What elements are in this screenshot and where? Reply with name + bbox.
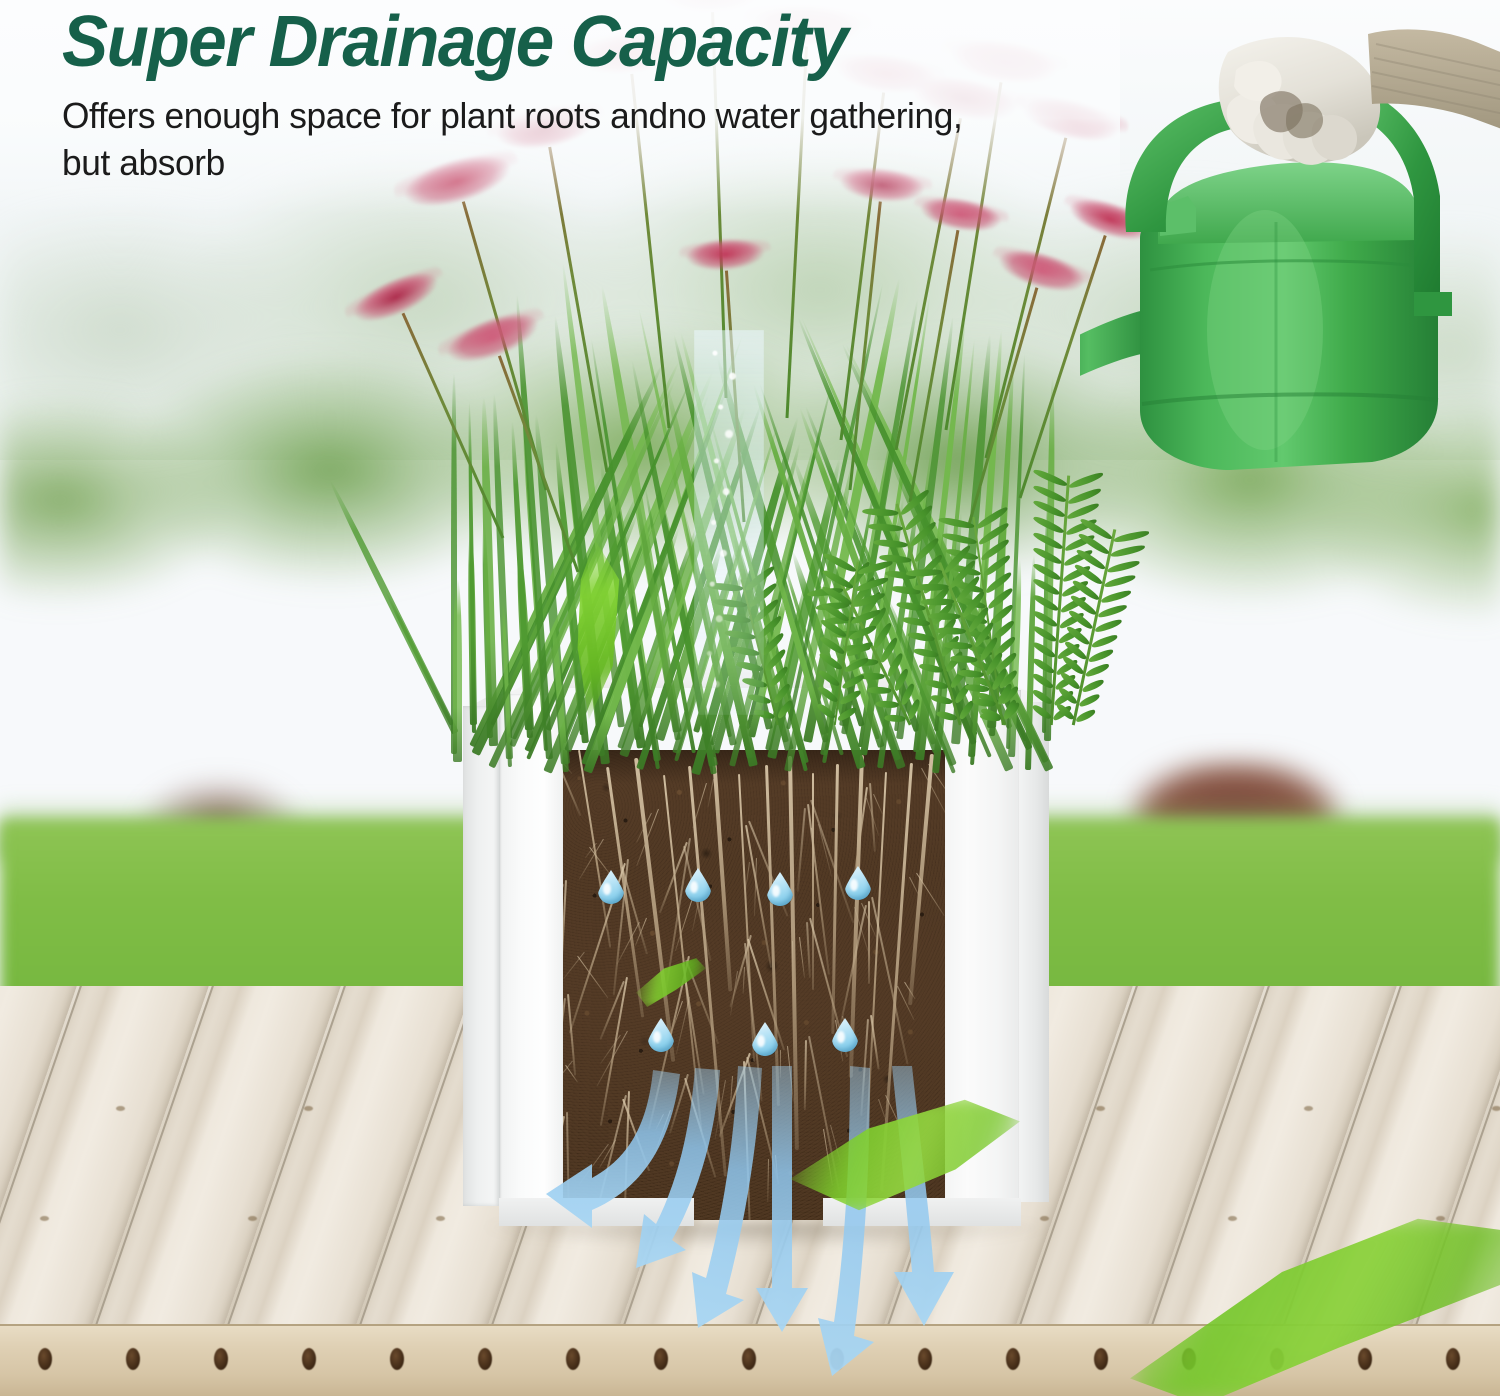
fern-pinna [906,569,942,576]
drainage-arrow-2 [636,1068,720,1268]
fern-pinna [906,698,922,720]
fern-pinna [921,597,954,605]
drainage-arrow-6 [892,1066,954,1326]
deck-nail [304,1106,313,1111]
deck-nail [116,1106,125,1111]
fern-pinna [862,507,899,518]
deck-nail [40,1216,49,1221]
rail-nail [302,1348,316,1370]
fern-pinna [1091,634,1119,649]
deck-nail [1096,1106,1105,1111]
fern-pinna [836,706,858,722]
rail-nail [1358,1348,1372,1370]
fern-pinna [935,626,966,636]
banner-text-block: Super Drainage Capacity Offers enough sp… [62,6,1122,186]
fern-pinna [1081,678,1105,693]
drainage-arrow-4 [756,1066,808,1332]
fern-pinna [816,684,838,704]
deck-nail [436,1216,445,1221]
fern-pinna [847,624,877,640]
fern-pinna [958,669,984,680]
fern-pinna [1078,693,1101,708]
fern-pinna [1100,589,1132,603]
fern-pinna [873,538,907,550]
fern-pinna [843,657,870,673]
fern-pinna [816,701,836,720]
deck-nail [1492,1106,1500,1111]
fern-pinna [838,689,862,705]
fern-pinna [1110,545,1145,559]
root-branch [868,901,870,984]
rail-nail [214,1348,228,1370]
rail-nail [38,1348,52,1370]
fern-pinna [850,608,882,624]
fern-pinna [1107,559,1141,573]
grass-blade [453,579,462,762]
fern-pinna [1113,530,1150,543]
fern-pinna [1056,701,1075,721]
water-stream [694,330,764,715]
rail-nail [390,1348,404,1370]
fern-pinna [854,576,889,592]
fern-pinna [943,640,972,650]
rail-nail [126,1348,140,1370]
plume-head [678,228,773,274]
deck-nail [1304,1106,1313,1111]
watering-can-group [1080,0,1500,500]
fern-pinna [817,667,840,688]
fern-pinna [928,612,960,621]
fern-pinna [913,583,948,591]
fern-pinna [840,673,865,689]
fern-pinna [1001,699,1018,720]
drainage-arrow-5 [818,1066,874,1376]
fern-pinna [1088,648,1115,663]
rail-nail [1446,1348,1460,1370]
page-subtitle: Offers enough space for plant roots andn… [62,93,1003,185]
deck-nail [248,1216,257,1221]
fern-pinna [845,640,873,656]
deck-nail [1228,1216,1237,1221]
fern-pinna [965,683,990,694]
drainage-arrow-1 [546,1070,680,1228]
fern-pinna [1097,604,1127,619]
fern-pinna [950,654,978,665]
fern-pinna [1094,619,1123,634]
deck-nail [1436,1216,1445,1221]
fern-pinna [1075,708,1097,723]
page-title: Super Drainage Capacity [62,6,1080,79]
can-highlight [1207,210,1323,450]
can-handle-joint [1414,292,1452,316]
fern-pinna [1084,663,1109,678]
watering-can-svg [1080,0,1500,500]
fern-pinna [868,522,903,533]
fern-pinna [1104,574,1137,588]
fern-pinna [941,531,976,547]
rail-nail [1094,1348,1108,1370]
product-feature-banner: Super Drainage Capacity Offers enough sp… [0,0,1500,1396]
fern-pinna [852,592,885,608]
rail-nail [478,1348,492,1370]
